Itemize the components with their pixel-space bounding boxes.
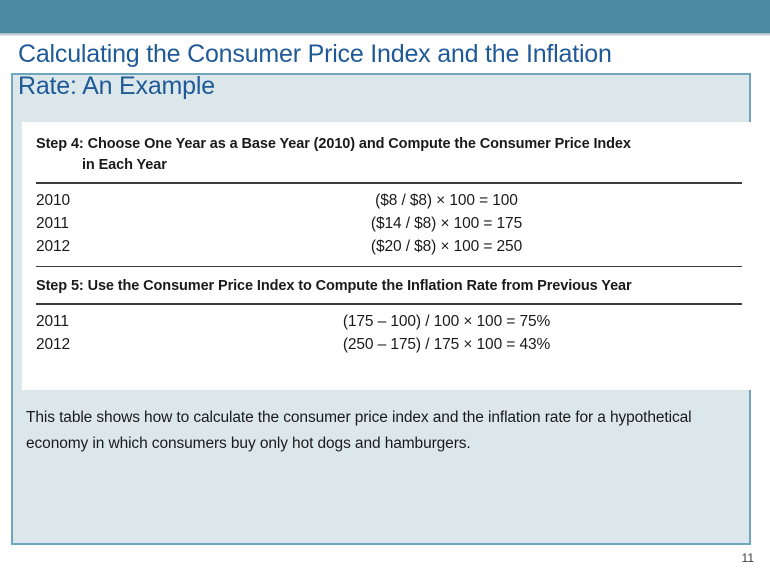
- page-title: Calculating the Consumer Price Index and…: [18, 38, 753, 102]
- row-formula: ($20 / $8) × 100 = 250: [261, 235, 742, 258]
- row-formula: ($8 / $8) × 100 = 100: [261, 189, 742, 212]
- row-year: 2012: [36, 235, 261, 258]
- table-inner: Step 4: Choose One Year as a Base Year (…: [36, 134, 742, 356]
- step5-heading: Step 5: Use the Consumer Price Index to …: [36, 267, 742, 303]
- caption-text: This table shows how to calculate the co…: [26, 405, 740, 457]
- top-decorative-band: [0, 0, 770, 33]
- page-number: 11: [742, 551, 754, 565]
- step4-heading-line2: in Each Year: [36, 155, 742, 176]
- table-row: 2010 ($8 / $8) × 100 = 100: [36, 189, 742, 212]
- top-band-shadow: [0, 33, 770, 36]
- step4-heading-line1: Step 4: Choose One Year as a Base Year (…: [36, 136, 631, 152]
- step4-heading: Step 4: Choose One Year as a Base Year (…: [36, 134, 742, 182]
- row-formula: (250 – 175) / 175 × 100 = 43%: [261, 333, 742, 356]
- table-row: 2012 (250 – 175) / 175 × 100 = 43%: [36, 333, 742, 356]
- row-formula: ($14 / $8) × 100 = 175: [261, 212, 742, 235]
- row-year: 2010: [36, 189, 261, 212]
- row-year: 2012: [36, 333, 261, 356]
- table-row: 2012 ($20 / $8) × 100 = 250: [36, 235, 742, 258]
- step5-heading-line1: Step 5: Use the Consumer Price Index to …: [36, 278, 632, 294]
- step5-rows: 2011 (175 – 100) / 100 × 100 = 75% 2012 …: [36, 305, 742, 356]
- row-year: 2011: [36, 310, 261, 333]
- step4-rows: 2010 ($8 / $8) × 100 = 100 2011 ($14 / $…: [36, 184, 742, 266]
- table-card: Step 4: Choose One Year as a Base Year (…: [22, 122, 756, 390]
- row-year: 2011: [36, 212, 261, 235]
- table-row: 2011 (175 – 100) / 100 × 100 = 75%: [36, 310, 742, 333]
- row-formula: (175 – 100) / 100 × 100 = 75%: [261, 310, 742, 333]
- table-row: 2011 ($14 / $8) × 100 = 175: [36, 212, 742, 235]
